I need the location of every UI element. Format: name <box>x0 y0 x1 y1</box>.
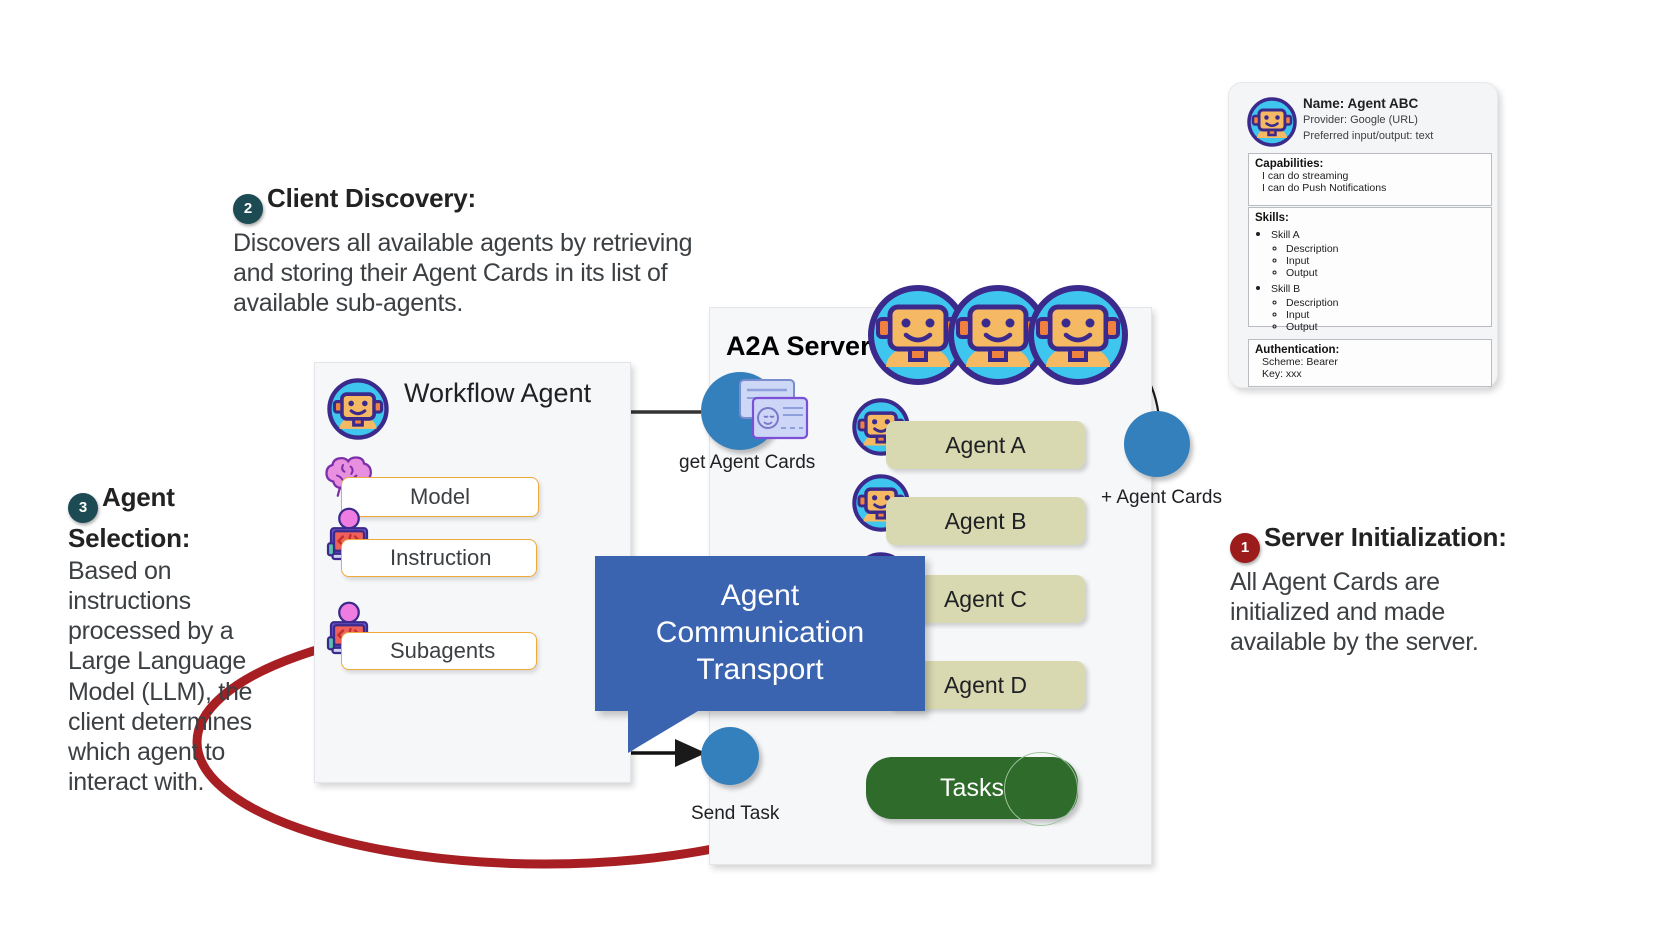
step-badge-2: 2 <box>233 194 263 224</box>
skill-sub: Description <box>1286 297 1485 309</box>
capabilities-item: I can do Push Notifications <box>1262 182 1485 194</box>
skill-sub: Input <box>1286 255 1485 267</box>
get-agent-cards-label: get Agent Cards <box>679 452 815 474</box>
agent-selection-body: Based on instructions processed by a Lar… <box>68 556 280 798</box>
client-discovery-heading: 2Client Discovery: <box>233 183 733 224</box>
server-init-title: Server Initialization: <box>1264 522 1507 552</box>
client-discovery-body: Discovers all available agents by retrie… <box>233 228 733 319</box>
agent-card-name: Name: Agent ABC <box>1303 96 1433 111</box>
agent-card-preferred: Preferred input/output: text <box>1303 130 1433 142</box>
authentication-heading: Authentication: <box>1255 344 1485 356</box>
server-init-body: All Agent Cards are initialized and made… <box>1230 567 1530 658</box>
skill-sub: Description <box>1286 243 1485 255</box>
skill-name: Skill A <box>1271 229 1300 241</box>
agent-card: Name: Agent ABC Provider: Google (URL) P… <box>1228 82 1498 388</box>
agent-pill-a[interactable]: Agent A <box>886 421 1085 469</box>
send-task-label: Send Task <box>691 803 779 825</box>
callout-tail <box>628 711 698 753</box>
skills-list: Skill A Description Input Output Skill B… <box>1255 225 1485 333</box>
authentication-item: Key: xxx <box>1262 368 1485 380</box>
send-task-circle[interactable] <box>701 727 759 785</box>
workflow-agent-avatar <box>327 378 389 445</box>
workflow-row-subagents[interactable]: Subagents <box>341 632 537 670</box>
skill-sub: Input <box>1286 309 1485 321</box>
agent-card-provider: Provider: Google (URL) <box>1303 114 1433 126</box>
skill-item: Skill B Description Input Output <box>1271 279 1485 333</box>
agent-selection-heading: 3Agent Selection: <box>68 482 280 554</box>
capabilities-heading: Capabilities: <box>1255 158 1485 170</box>
agent-communication-transport-callout: Agent Communication Transport <box>595 556 925 711</box>
step-server-initialization: 1Server Initialization: All Agent Cards … <box>1230 522 1530 657</box>
authentication-item: Scheme: Bearer <box>1262 356 1485 368</box>
agent-card-capabilities: Capabilities: I can do streaming I can d… <box>1248 153 1492 206</box>
a2a-server-title: A2A Server <box>726 331 871 362</box>
skill-sub: Output <box>1286 267 1485 279</box>
add-agent-cards-label: + Agent Cards <box>1101 487 1222 509</box>
skill-sub: Output <box>1286 321 1485 333</box>
agent-pill-b[interactable]: Agent B <box>886 497 1085 545</box>
client-discovery-title: Client Discovery: <box>267 183 476 213</box>
step-client-discovery: 2Client Discovery: Discovers all availab… <box>233 183 733 318</box>
workflow-row-label: Model <box>410 484 470 510</box>
skill-name: Skill B <box>1271 283 1300 295</box>
agent-cards-stack-icon <box>735 378 811 444</box>
callout-line-2: Communication <box>656 615 864 652</box>
skills-heading: Skills: <box>1255 212 1485 224</box>
agent-card-skills: Skills: Skill A Description Input Output… <box>1248 207 1492 327</box>
skill-sub-list: Description Input Output <box>1271 243 1485 279</box>
skill-sub-list: Description Input Output <box>1271 297 1485 333</box>
agent-pill-label: Agent A <box>945 432 1026 459</box>
agent-card-identity: Name: Agent ABC Provider: Google (URL) P… <box>1303 96 1433 142</box>
agent-pill-label: Agent D <box>944 672 1027 699</box>
workflow-row-label: Instruction <box>390 545 492 571</box>
server-init-heading: 1Server Initialization: <box>1230 522 1530 563</box>
agent-card-authentication: Authentication: Scheme: Bearer Key: xxx <box>1248 339 1492 387</box>
callout-line-1: Agent <box>656 578 864 615</box>
step-badge-3: 3 <box>68 493 98 523</box>
workflow-row-label: Subagents <box>390 638 495 664</box>
callout-line-3: Transport <box>656 652 864 689</box>
robot-cluster <box>868 283 1128 388</box>
step-badge-1: 1 <box>1230 533 1260 563</box>
agent-card-avatar <box>1247 97 1297 152</box>
workflow-agent-title: Workflow Agent <box>404 378 591 409</box>
skill-item: Skill A Description Input Output <box>1271 225 1485 279</box>
workflow-row-instruction[interactable]: Instruction <box>341 539 537 577</box>
tasks-accent-circle <box>1004 752 1078 826</box>
agent-pill-label: Agent B <box>945 508 1027 535</box>
agent-pill-label: Agent C <box>944 586 1027 613</box>
step-agent-selection: 3Agent Selection: Based on instructions … <box>68 482 280 798</box>
capabilities-item: I can do streaming <box>1262 170 1485 182</box>
add-agent-cards-circle[interactable] <box>1124 411 1190 477</box>
tasks-label: Tasks <box>940 774 1004 803</box>
